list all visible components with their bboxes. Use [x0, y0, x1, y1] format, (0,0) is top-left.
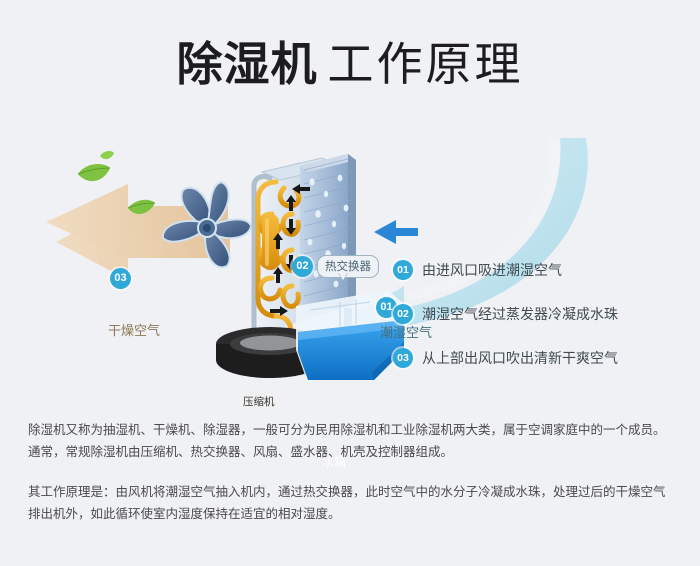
step-text: 潮湿空气经过蒸发器冷凝成水珠: [422, 304, 618, 324]
evaporator-coil: [300, 154, 356, 322]
list-item: 03 从上部出风口吹出清新干爽空气: [393, 342, 673, 374]
step-badge: 02: [393, 304, 413, 324]
page-title-sub: 工作原理: [328, 38, 524, 90]
label-compressor: 压缩机: [240, 393, 278, 410]
list-item: 01 由进风口吸进潮湿空气: [393, 254, 673, 286]
description-block: 除湿机又称为抽湿机、干燥机、除湿器，一般可分为民用除湿机和工业除湿机两大类，属于…: [28, 419, 676, 543]
callout-tail-icon: [338, 272, 348, 280]
step-text: 从上部出风口吹出清新干爽空气: [422, 348, 618, 368]
callout-heat-exchanger: 热交换器: [317, 255, 379, 278]
step-text: 由进风口吸进潮湿空气: [422, 260, 562, 280]
description-paragraph-2: 其工作原理是：由风机将潮湿空气抽入机内，通过热交换器，此时空气中的水分子冷凝成水…: [28, 481, 676, 525]
page-title: 除湿机工作原理: [0, 28, 700, 94]
page-root: 除湿机工作原理: [0, 0, 700, 566]
intake-arrow: [374, 220, 418, 244]
step-badge: 01: [393, 260, 413, 280]
page-title-main: 除湿机: [177, 37, 318, 91]
diagram-badge-03: 03: [110, 268, 131, 289]
step-badge: 03: [393, 348, 413, 368]
principle-steps-list: 01 由进风口吸进潮湿空气 02 潮湿空气经过蒸发器冷凝成水珠 03 从上部出风…: [393, 254, 673, 386]
list-item: 02 潮湿空气经过蒸发器冷凝成水珠: [393, 298, 673, 330]
label-dry-air: 干燥空气: [108, 320, 160, 339]
diagram-badge-02: 02: [292, 256, 313, 277]
description-paragraph-1: 除湿机又称为抽湿机、干燥机、除湿器，一般可分为民用除湿机和工业除湿机两大类，属于…: [28, 419, 676, 463]
